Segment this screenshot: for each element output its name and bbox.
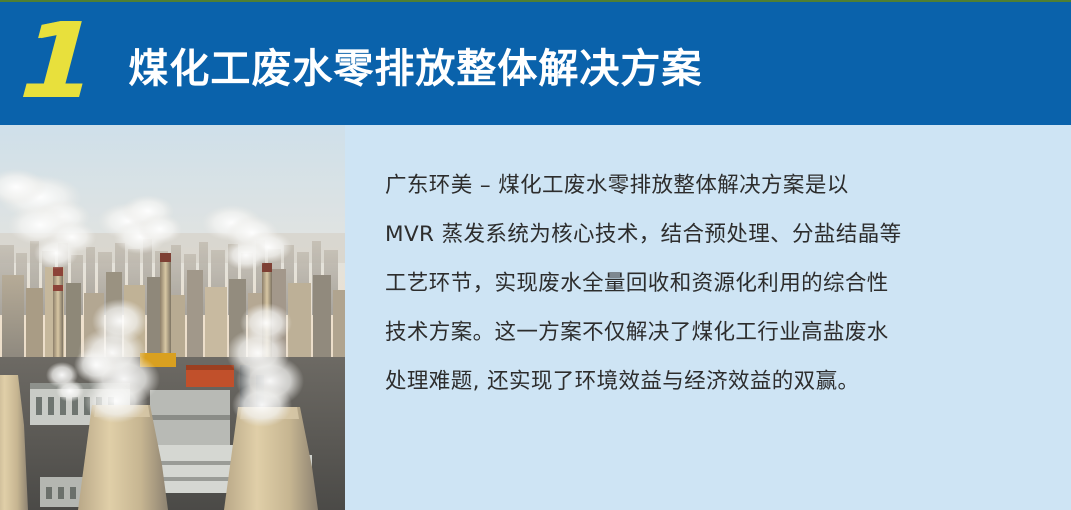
body-paragraph: 广东环美 – 煤化工废水零排放整体解决方案是以 MVR 蒸发系统为核心技术，结合… [385, 161, 985, 406]
section-number: 1 [18, 9, 94, 113]
content-area: 广东环美 – 煤化工废水零排放整体解决方案是以 MVR 蒸发系统为核心技术，结合… [0, 125, 1071, 510]
coal-power-plant-aerial-photo [0, 125, 345, 510]
slide-root: 1 煤化工废水零排放整体解决方案 [0, 0, 1071, 510]
page-title: 煤化工废水零排放整体解决方案 [128, 36, 702, 94]
photo-artwork [0, 125, 345, 510]
header-bar: 1 煤化工废水零排放整体解决方案 [0, 0, 1071, 125]
